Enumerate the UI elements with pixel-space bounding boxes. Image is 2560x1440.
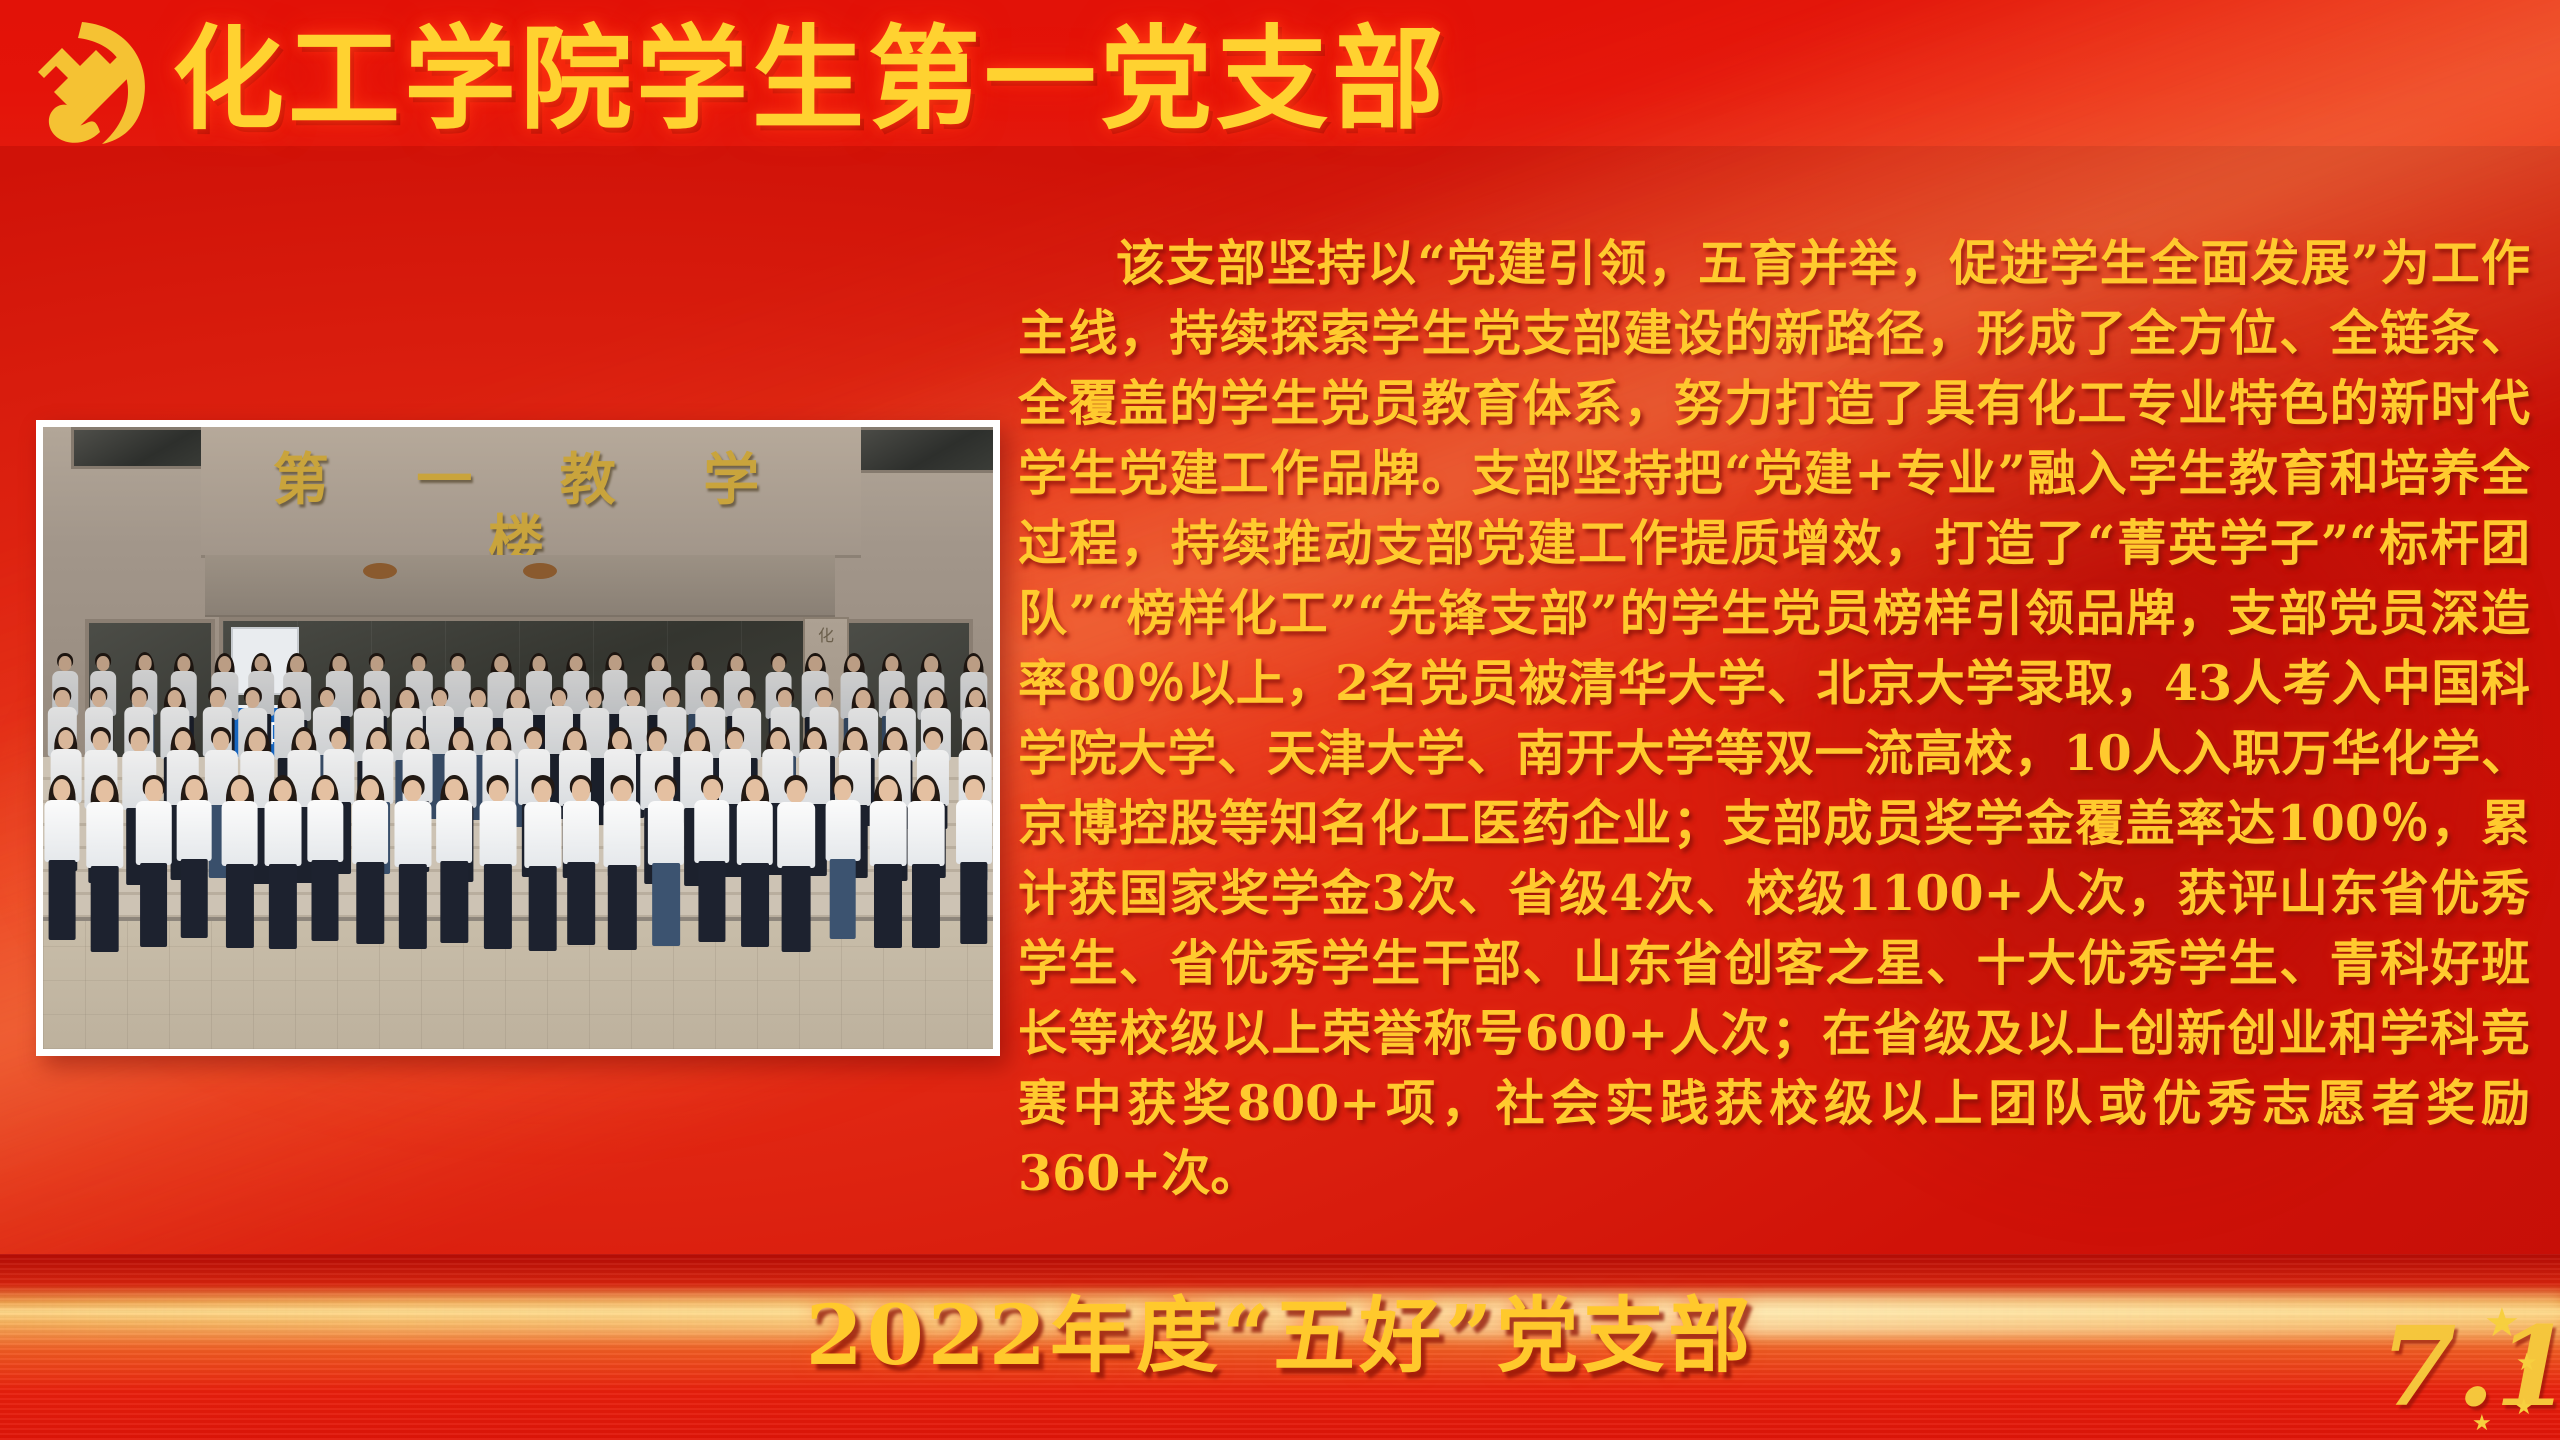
photo-person-head	[230, 779, 248, 802]
photo-person	[83, 773, 127, 960]
photo-person-head	[131, 731, 148, 752]
photo-person	[349, 773, 391, 952]
photo-person-legs	[90, 866, 119, 952]
star-icon: ★	[2484, 1310, 2520, 1336]
photo-person	[733, 773, 776, 955]
photo-person-head	[928, 690, 943, 709]
photo-person-legs	[567, 862, 595, 945]
photo-person-shirt	[394, 801, 431, 866]
photo-person	[174, 773, 215, 946]
photo-person-legs	[441, 861, 468, 943]
photo-person-head	[609, 655, 622, 671]
photo-person	[132, 773, 175, 955]
photo-person-head	[648, 731, 665, 752]
footer-banner: 2022年度“五好”党支部 7.1 ★ ★ ★ ★	[0, 1254, 2560, 1440]
photo-person	[645, 773, 688, 954]
footer-title: 2022年度“五好”党支部	[0, 1288, 2560, 1384]
photo-person-head	[967, 656, 981, 673]
photo-person-head	[451, 656, 464, 672]
photo-person-head	[787, 780, 806, 803]
photo-person	[691, 773, 733, 950]
photo-person-head	[532, 656, 545, 672]
photo-person-shirt	[737, 801, 773, 865]
photo-person-head	[657, 779, 675, 801]
photo-person-shirt	[563, 801, 599, 865]
photo-person-shirt	[870, 801, 907, 866]
photo-person	[391, 773, 435, 958]
photo-person-head	[739, 690, 754, 708]
photo-person-head	[770, 731, 786, 750]
photo-person-head	[652, 656, 665, 672]
photo-person-head	[320, 690, 334, 707]
photo-person-legs	[741, 863, 769, 947]
photo-person-legs	[782, 866, 811, 952]
photo-person-legs	[698, 861, 725, 942]
photo-person-legs	[399, 864, 427, 949]
photo-person-head	[879, 779, 897, 802]
poster-header: 化工学院学生第一党支部	[0, 0, 2560, 160]
photo-person-legs	[140, 863, 168, 947]
photo-person-head	[59, 656, 72, 672]
photo-person-head	[167, 690, 182, 708]
photo-person-head	[316, 779, 334, 801]
photo-person-head	[587, 690, 602, 708]
photo-person-head	[471, 690, 485, 708]
photo-person-shirt	[308, 800, 343, 862]
photo-person-head	[55, 690, 69, 708]
photo-person-head	[691, 655, 704, 671]
photo-person-head	[282, 690, 297, 708]
photo-person-head	[361, 690, 376, 709]
star-icon: ★	[2514, 1394, 2534, 1420]
photo-person	[600, 773, 644, 959]
photo-window-left	[71, 427, 217, 469]
photo-person-head	[917, 779, 935, 802]
anniversary-badge: 7.1 ★ ★ ★ ★	[2376, 1306, 2546, 1436]
photo-person-head	[703, 690, 718, 708]
photo-person-head	[132, 690, 147, 708]
photo-person-head	[58, 730, 73, 749]
photo-person-head	[772, 656, 785, 673]
photo-person-head	[613, 780, 632, 803]
photo-person-head	[295, 731, 312, 751]
photo-crowd	[43, 655, 993, 931]
photo-person	[43, 773, 82, 948]
photo-person-head	[403, 780, 422, 803]
photo-person-head	[567, 731, 583, 751]
photo-person	[905, 773, 948, 956]
photo-window-right	[843, 427, 993, 473]
photo-person-head	[612, 731, 628, 751]
photo-person-head	[175, 731, 191, 751]
photo-person-shirt	[777, 802, 815, 868]
photo-person	[218, 773, 261, 957]
photo-person-head	[245, 690, 260, 708]
photo-person-legs	[312, 860, 339, 941]
photo-person-shirt	[908, 801, 945, 866]
poster-canvas: 化工学院学生第一党支部 第 一 教 学 楼 入口 化 该支部坚持以“党建引领，五	[0, 0, 2560, 1440]
photo-person-head	[370, 656, 383, 672]
photo-person-head	[413, 656, 426, 672]
photo-person-head	[92, 731, 109, 751]
photo-person	[774, 773, 818, 961]
photo-person-shirt	[177, 800, 212, 861]
photo-person-shirt	[135, 801, 171, 865]
star-icon: ★	[2472, 1410, 2492, 1436]
photo-person-legs	[608, 865, 636, 950]
photo-person-head	[213, 731, 229, 751]
photo-person-legs	[528, 866, 557, 952]
hammer-and-sickle-icon	[22, 12, 162, 148]
photo-person-head	[218, 656, 232, 673]
photo-person-legs	[181, 859, 208, 939]
photo-person-shirt	[353, 800, 389, 863]
photo-person-head	[290, 656, 304, 673]
photo-person-head	[887, 731, 903, 751]
photo-person-legs	[960, 862, 987, 944]
photo-person-head	[925, 731, 941, 751]
photo-person-legs	[652, 863, 680, 946]
photo-person-head	[488, 780, 506, 803]
photo-person-head	[331, 731, 347, 750]
photo-person-legs	[912, 864, 940, 948]
photo-person-head	[249, 731, 266, 752]
photo-person-head	[856, 690, 871, 708]
photo-person-head	[95, 780, 114, 803]
photo-person-head	[817, 690, 831, 708]
photo-person	[822, 773, 863, 947]
group-photo: 第 一 教 学 楼 入口 化	[43, 427, 993, 1049]
photo-person-head	[924, 656, 938, 673]
photo-person-shirt	[221, 801, 258, 866]
photo-canopy-light	[363, 563, 397, 579]
photo-person-head	[570, 656, 583, 672]
page-title: 化工学院学生第一党支部	[172, 16, 1448, 144]
photo-person-legs	[269, 864, 297, 949]
photo-person-head	[778, 690, 792, 708]
photo-person-head	[847, 731, 863, 751]
photo-person-head	[97, 656, 110, 672]
photo-person-head	[433, 690, 447, 707]
description-paragraph: 该支部坚持以“党建引领，五育并举，促进学生全面发展”为工作主线，持续探索学生党支…	[1018, 228, 2530, 1208]
photo-person	[521, 773, 565, 960]
photo-person-legs	[829, 859, 856, 939]
photo-person	[433, 773, 475, 952]
photo-person-shirt	[524, 802, 561, 868]
photo-canopy-light	[523, 563, 557, 579]
photo-person-head	[491, 731, 508, 751]
photo-person-shirt	[604, 801, 641, 866]
photo-person-head	[572, 779, 590, 801]
photo-person-head	[145, 779, 163, 802]
photo-person-shirt	[956, 800, 992, 863]
photo-person	[560, 773, 602, 954]
photo-person-legs	[484, 864, 512, 949]
photo-person-shirt	[694, 800, 729, 863]
photo-person-head	[362, 779, 380, 801]
photo-person-head	[400, 690, 415, 709]
photo-person-head	[552, 690, 566, 707]
photo-person-head	[510, 690, 525, 708]
photo-person-head	[139, 655, 152, 671]
photo-person-shirt	[86, 802, 123, 868]
photo-person	[305, 773, 347, 950]
photo-person-head	[893, 690, 908, 709]
photo-person-head	[527, 731, 543, 751]
star-icon: ★	[2516, 1350, 2538, 1376]
photo-person-head	[370, 731, 386, 750]
photo-person-shirt	[648, 801, 684, 865]
photo-person	[261, 773, 304, 958]
photo-person-head	[688, 731, 705, 752]
photo-person-head	[746, 779, 764, 802]
photo-person-shirt	[825, 800, 860, 861]
photo-entrance-canopy	[205, 555, 835, 617]
photo-person-head	[92, 690, 106, 707]
photo-person-shirt	[44, 800, 79, 862]
photo-person-head	[445, 779, 463, 801]
photo-person-legs	[225, 864, 253, 948]
photo-person-shirt	[264, 801, 301, 866]
photo-person-head	[410, 730, 425, 749]
photo-person-head	[274, 780, 292, 803]
photo-person-head	[533, 780, 552, 803]
photo-person-head	[333, 656, 346, 672]
photo-person	[952, 773, 993, 953]
photo-person-head	[807, 731, 823, 751]
photo-person-head	[730, 656, 743, 672]
photo-person-head	[727, 731, 743, 751]
photo-person-head	[703, 779, 721, 801]
photo-person-legs	[357, 862, 384, 944]
photo-person-head	[847, 656, 860, 673]
photo-person-head	[210, 690, 224, 708]
photo-person-head	[834, 779, 851, 800]
photo-person-shirt	[479, 801, 516, 866]
photo-person-shirt	[436, 800, 472, 863]
photo-person-head	[965, 779, 983, 801]
photo-person-head	[255, 656, 268, 672]
group-photo-frame: 第 一 教 学 楼 入口 化	[36, 420, 1000, 1056]
photo-person	[476, 773, 519, 957]
photo-person	[867, 773, 910, 956]
photo-person-head	[665, 690, 680, 708]
photo-person-legs	[874, 864, 902, 948]
photo-person-head	[53, 779, 71, 801]
photo-person-legs	[48, 860, 75, 940]
photo-person-head	[494, 656, 508, 673]
photo-person-head	[626, 690, 640, 707]
